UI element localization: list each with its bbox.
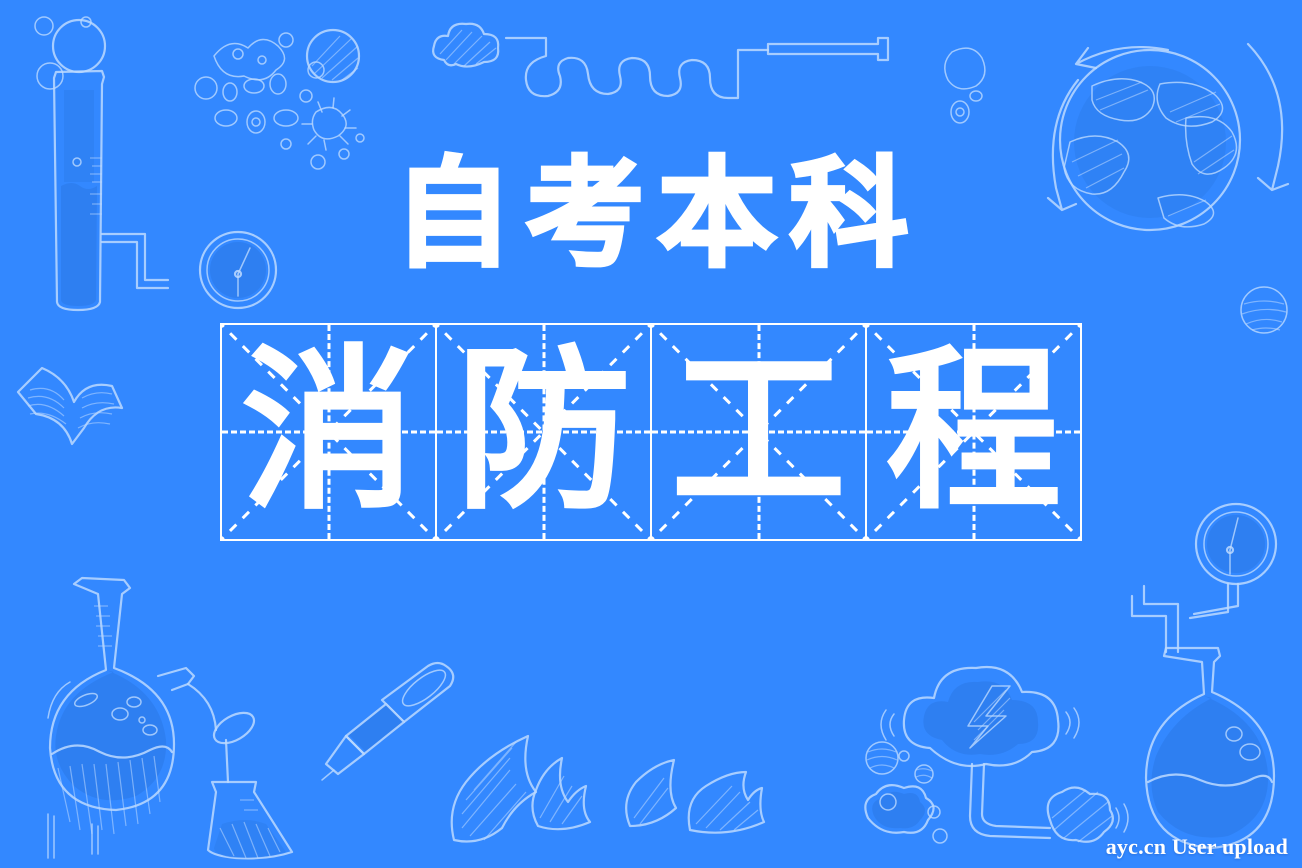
poster-canvas: 自考本科 消	[0, 0, 1302, 868]
grid-cell: 工	[652, 325, 867, 539]
round-bottom-flask-icon	[8, 572, 228, 862]
grid-character: 消	[222, 325, 435, 539]
cloud-top-icon	[428, 16, 506, 78]
flask-right-icon	[1122, 596, 1302, 866]
bubbles-top-left-icon	[24, 14, 134, 134]
grid-character: 程	[867, 325, 1080, 539]
pressure-gauge-right-icon	[1188, 496, 1298, 626]
grid-character: 防	[437, 325, 650, 539]
cloud-lightning-icon	[860, 640, 1130, 860]
fountain-pen-icon	[320, 660, 460, 780]
watermark-text: ayc.cn User upload	[1106, 834, 1288, 860]
page-title: 自考本科	[0, 155, 1302, 273]
grid-cell: 防	[437, 325, 652, 539]
blob-sketch-icon	[938, 40, 994, 136]
grid-cell: 程	[867, 325, 1080, 539]
character-grid: 消 防	[220, 323, 1082, 541]
grid-cell: 消	[222, 325, 437, 539]
planet-right-icon	[1236, 282, 1292, 338]
leaf-flames-icon	[440, 730, 770, 850]
open-book-icon	[12, 352, 130, 464]
erlenmeyer-flask-icon	[200, 712, 320, 860]
grid-character: 工	[652, 325, 865, 539]
coil-tube-icon	[506, 28, 906, 114]
